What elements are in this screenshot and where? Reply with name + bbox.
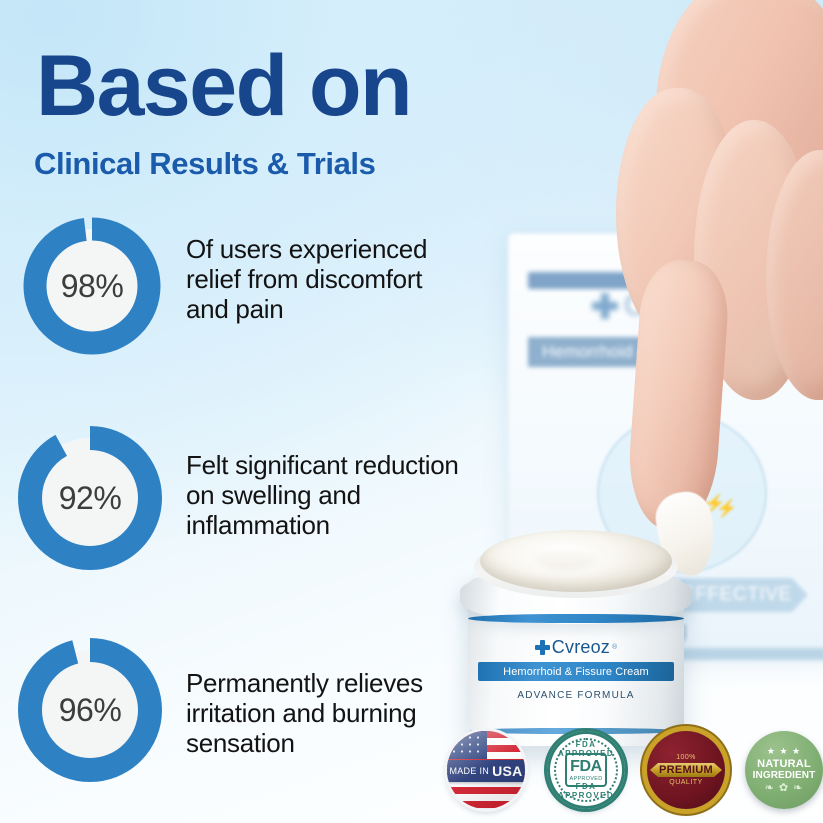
donut-chart-98: 98% — [22, 216, 162, 356]
promo-graphic: Cvreoz Hemorrhoid & Fissure Cream ⚡ ⚡ ⚡ … — [0, 0, 823, 823]
donut-chart-92: 92% — [16, 424, 164, 572]
stat-item: 98% Of users experienced relief from dis… — [22, 216, 486, 356]
stat-description: Permanently relieves irritation and burn… — [186, 668, 486, 758]
donut-chart-96: 96% — [16, 636, 164, 784]
page-subheadline: Clinical Results & Trials — [34, 148, 375, 179]
donut-percent-label: 96% — [16, 636, 164, 784]
stat-item: 92% Felt significant reduction on swelli… — [16, 424, 516, 572]
overlay-content: Based on Clinical Results & Trials 98% O… — [0, 0, 823, 823]
page-headline: Based on — [36, 43, 411, 129]
stat-description: Of users experienced relief from discomf… — [186, 234, 486, 324]
donut-percent-label: 92% — [16, 424, 164, 572]
stat-item: 96% Permanently relieves irritation and … — [16, 636, 486, 784]
stat-description: Felt significant reduction on swelling a… — [186, 450, 516, 540]
donut-percent-label: 98% — [22, 216, 162, 356]
